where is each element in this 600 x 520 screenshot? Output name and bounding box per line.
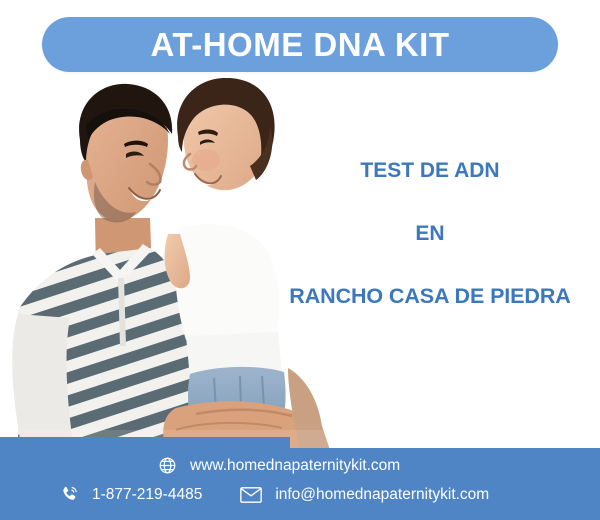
- footer-website-row[interactable]: www.homednapaternitykit.com: [158, 456, 400, 475]
- dna-test-poster: AT-HOME DNA KIT: [0, 0, 600, 520]
- footer-contact-row: 1-877-219-4485 info@homednapaternitykit.…: [60, 485, 489, 504]
- footer-phone-text[interactable]: 1-877-219-4485: [92, 487, 202, 503]
- banner-title: AT-HOME DNA KIT: [151, 28, 450, 61]
- footer-email-text[interactable]: info@homednapaternitykit.com: [275, 487, 489, 503]
- envelope-icon: [240, 486, 262, 504]
- globe-icon: [158, 456, 177, 475]
- footer-website-text[interactable]: www.homednapaternitykit.com: [190, 458, 400, 474]
- banner-pill: AT-HOME DNA KIT: [42, 17, 558, 72]
- phone-icon: [60, 485, 79, 504]
- headline-line-2: EN: [262, 223, 598, 244]
- footer-content: www.homednapaternitykit.com 1-877-219-44…: [0, 430, 600, 520]
- footer-bar: www.homednapaternitykit.com 1-877-219-44…: [0, 430, 600, 520]
- headline-line-1: TEST DE ADN: [262, 160, 598, 181]
- headline-block: TEST DE ADN EN RANCHO CASA DE PIEDRA: [262, 160, 598, 308]
- headline-line-3: RANCHO CASA DE PIEDRA: [262, 286, 598, 308]
